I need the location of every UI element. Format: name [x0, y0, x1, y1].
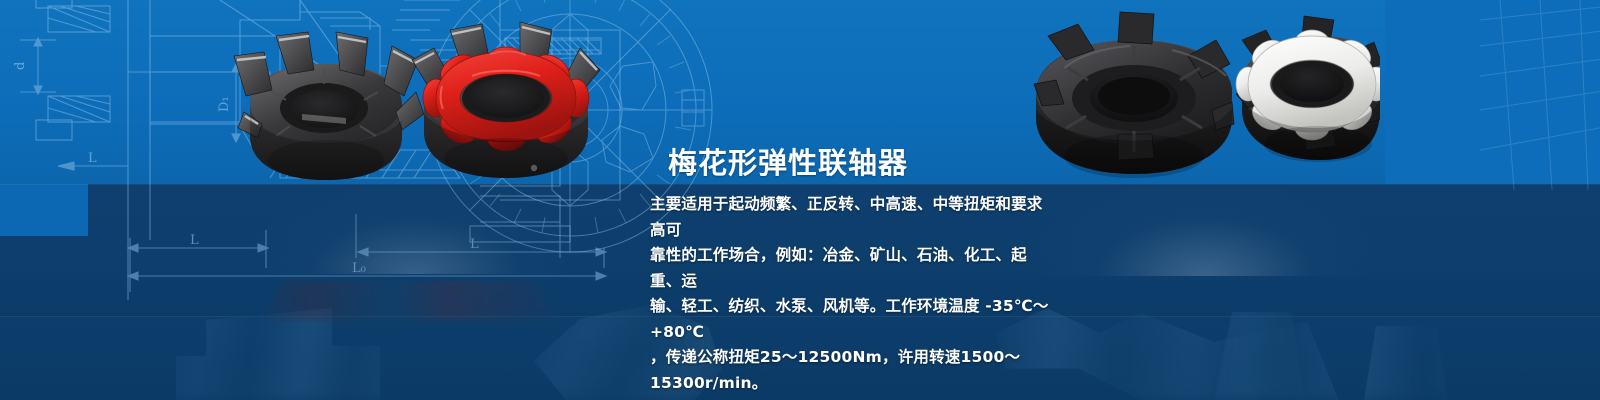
- page-title: 梅花形弹性联轴器: [668, 140, 908, 182]
- product-description: 主要适用于起动频繁、正反转、中高速、中等扭矩和要求高可 靠性的工作场合，例如：冶…: [650, 192, 1054, 396]
- description-line-3: 输、轻工、纺织、水泵、风机等。工作环境温度 -35℃～+80℃: [650, 294, 1054, 345]
- product-banner: d D₁ D L L L₀ L: [0, 0, 1600, 400]
- background-band-bright-right: [1385, 0, 1600, 184]
- product-image-left-pair: [228, 8, 608, 208]
- description-line-4: ，传递公称扭矩25～12500Nm，许用转速1500～15300r/min。: [650, 345, 1054, 396]
- coupling-hub-black-large: [1034, 12, 1234, 178]
- coupling-hub-black-left: [234, 32, 424, 180]
- background-band-bright-left-step: [0, 184, 88, 236]
- coupling-hub-red-spider: [412, 22, 600, 178]
- product-image-right-pair: [1030, 6, 1380, 201]
- coupling-hub-white-spider: [1236, 16, 1380, 162]
- description-line-2: 靠性的工作场合，例如：冶金、矿山、石油、化工、起重、运: [650, 243, 1054, 294]
- description-line-1: 主要适用于起动频繁、正反转、中高速、中等扭矩和要求高可: [650, 192, 1054, 243]
